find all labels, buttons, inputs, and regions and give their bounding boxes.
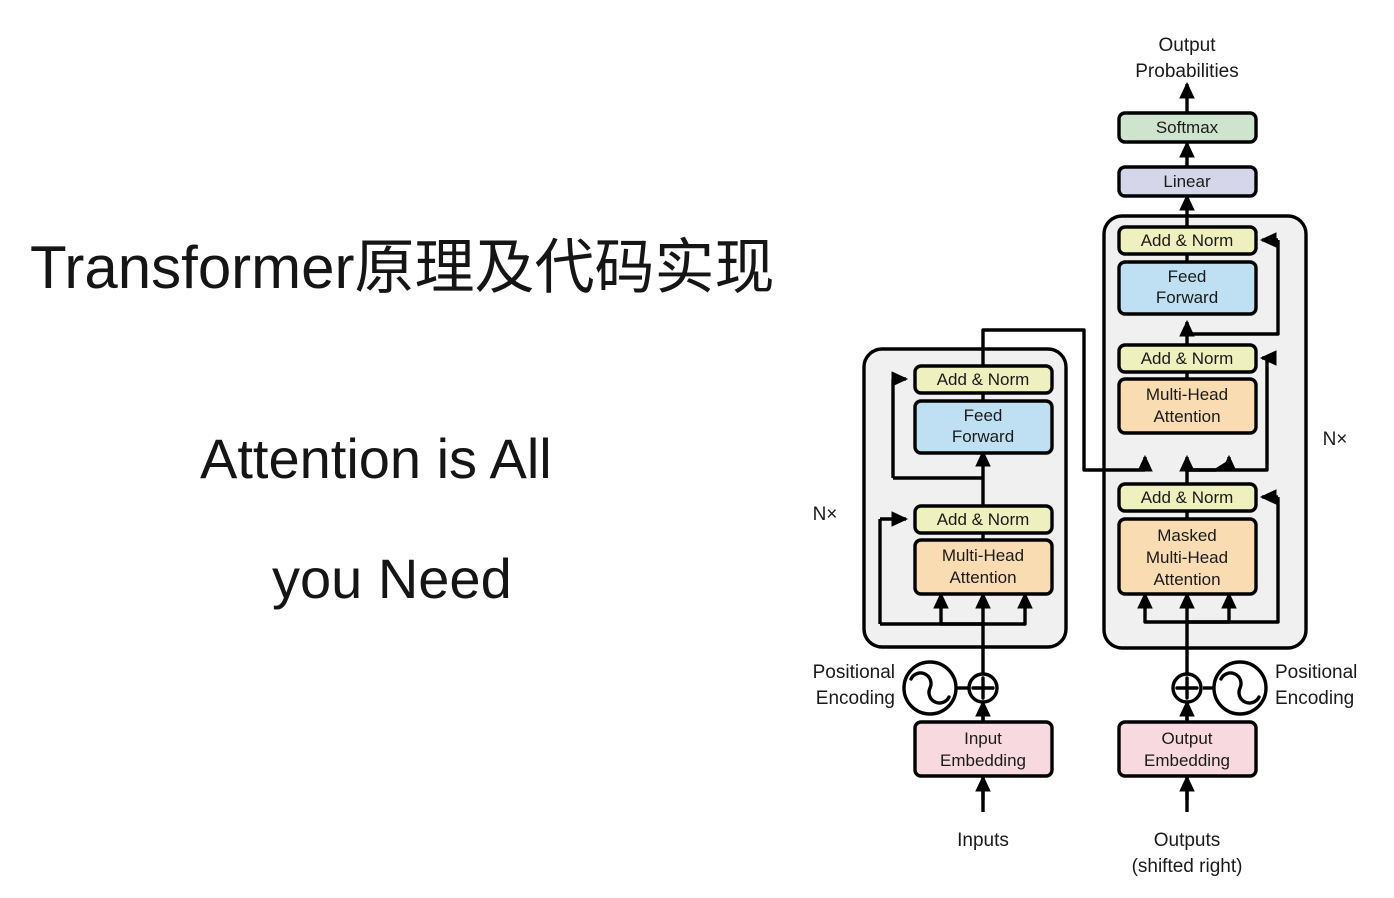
block-label-line2: Forward	[952, 427, 1014, 446]
block-label-line1: Output	[1161, 729, 1212, 748]
add-operator-icon-encoder	[969, 674, 997, 702]
encoder-positional-encoding-label-line2: Encoding	[816, 688, 895, 709]
inputs-label: Inputs	[957, 830, 1009, 851]
output-probabilities-label-line2: Probabilities	[1135, 61, 1239, 82]
block-label-line2: Embedding	[1144, 751, 1230, 770]
block-label: Add & Norm	[1141, 488, 1234, 507]
block-label-line1: Feed	[964, 406, 1003, 425]
decoder-repeat-label: N×	[1323, 429, 1348, 450]
block-label-line2: Attention	[949, 568, 1016, 587]
block-label-line2: Multi-Head	[1146, 548, 1228, 567]
block-label-line2: Forward	[1156, 288, 1218, 307]
block-label: Add & Norm	[1141, 231, 1234, 250]
block-label-line1: Input	[964, 729, 1002, 748]
block-label: Add & Norm	[937, 370, 1030, 389]
block-label: Linear	[1163, 172, 1211, 191]
sine-wave-circle-icon-decoder	[1214, 662, 1266, 714]
encoder-positional-encoding-label-line1: Positional	[813, 662, 895, 683]
output-probabilities-label-line1: Output	[1158, 35, 1216, 56]
decoder-positional-encoding-label-line2: Encoding	[1275, 688, 1354, 709]
block-label-line1: Multi-Head	[942, 546, 1024, 565]
decoder-positional-encoding-label-line1: Positional	[1275, 662, 1357, 683]
block-label-line2: Embedding	[940, 751, 1026, 770]
block-label: Add & Norm	[1141, 349, 1234, 368]
decoder-blocks: Add & Norm Feed Forward Add & Norm Multi…	[1119, 227, 1256, 594]
block-label: Add & Norm	[937, 510, 1030, 529]
transformer-architecture-diagram: Add & Norm Feed Forward Add & Norm Multi…	[0, 0, 1394, 898]
block-label-line3: Attention	[1153, 570, 1220, 589]
outputs-label-line1: Outputs	[1154, 830, 1221, 851]
block-label-line2: Attention	[1153, 407, 1220, 426]
encoder-repeat-label: N×	[813, 504, 838, 525]
block-label-line1: Feed	[1168, 267, 1207, 286]
embedding-blocks: Input Embedding Output Embedding	[915, 722, 1256, 776]
block-label-line1: Masked	[1157, 526, 1217, 545]
sine-wave-circle-icon-encoder	[904, 662, 956, 714]
outputs-label-line2: (shifted right)	[1132, 856, 1243, 877]
block-label: Softmax	[1156, 118, 1219, 137]
block-label-line1: Multi-Head	[1146, 385, 1228, 404]
add-operator-icon-decoder	[1173, 674, 1201, 702]
